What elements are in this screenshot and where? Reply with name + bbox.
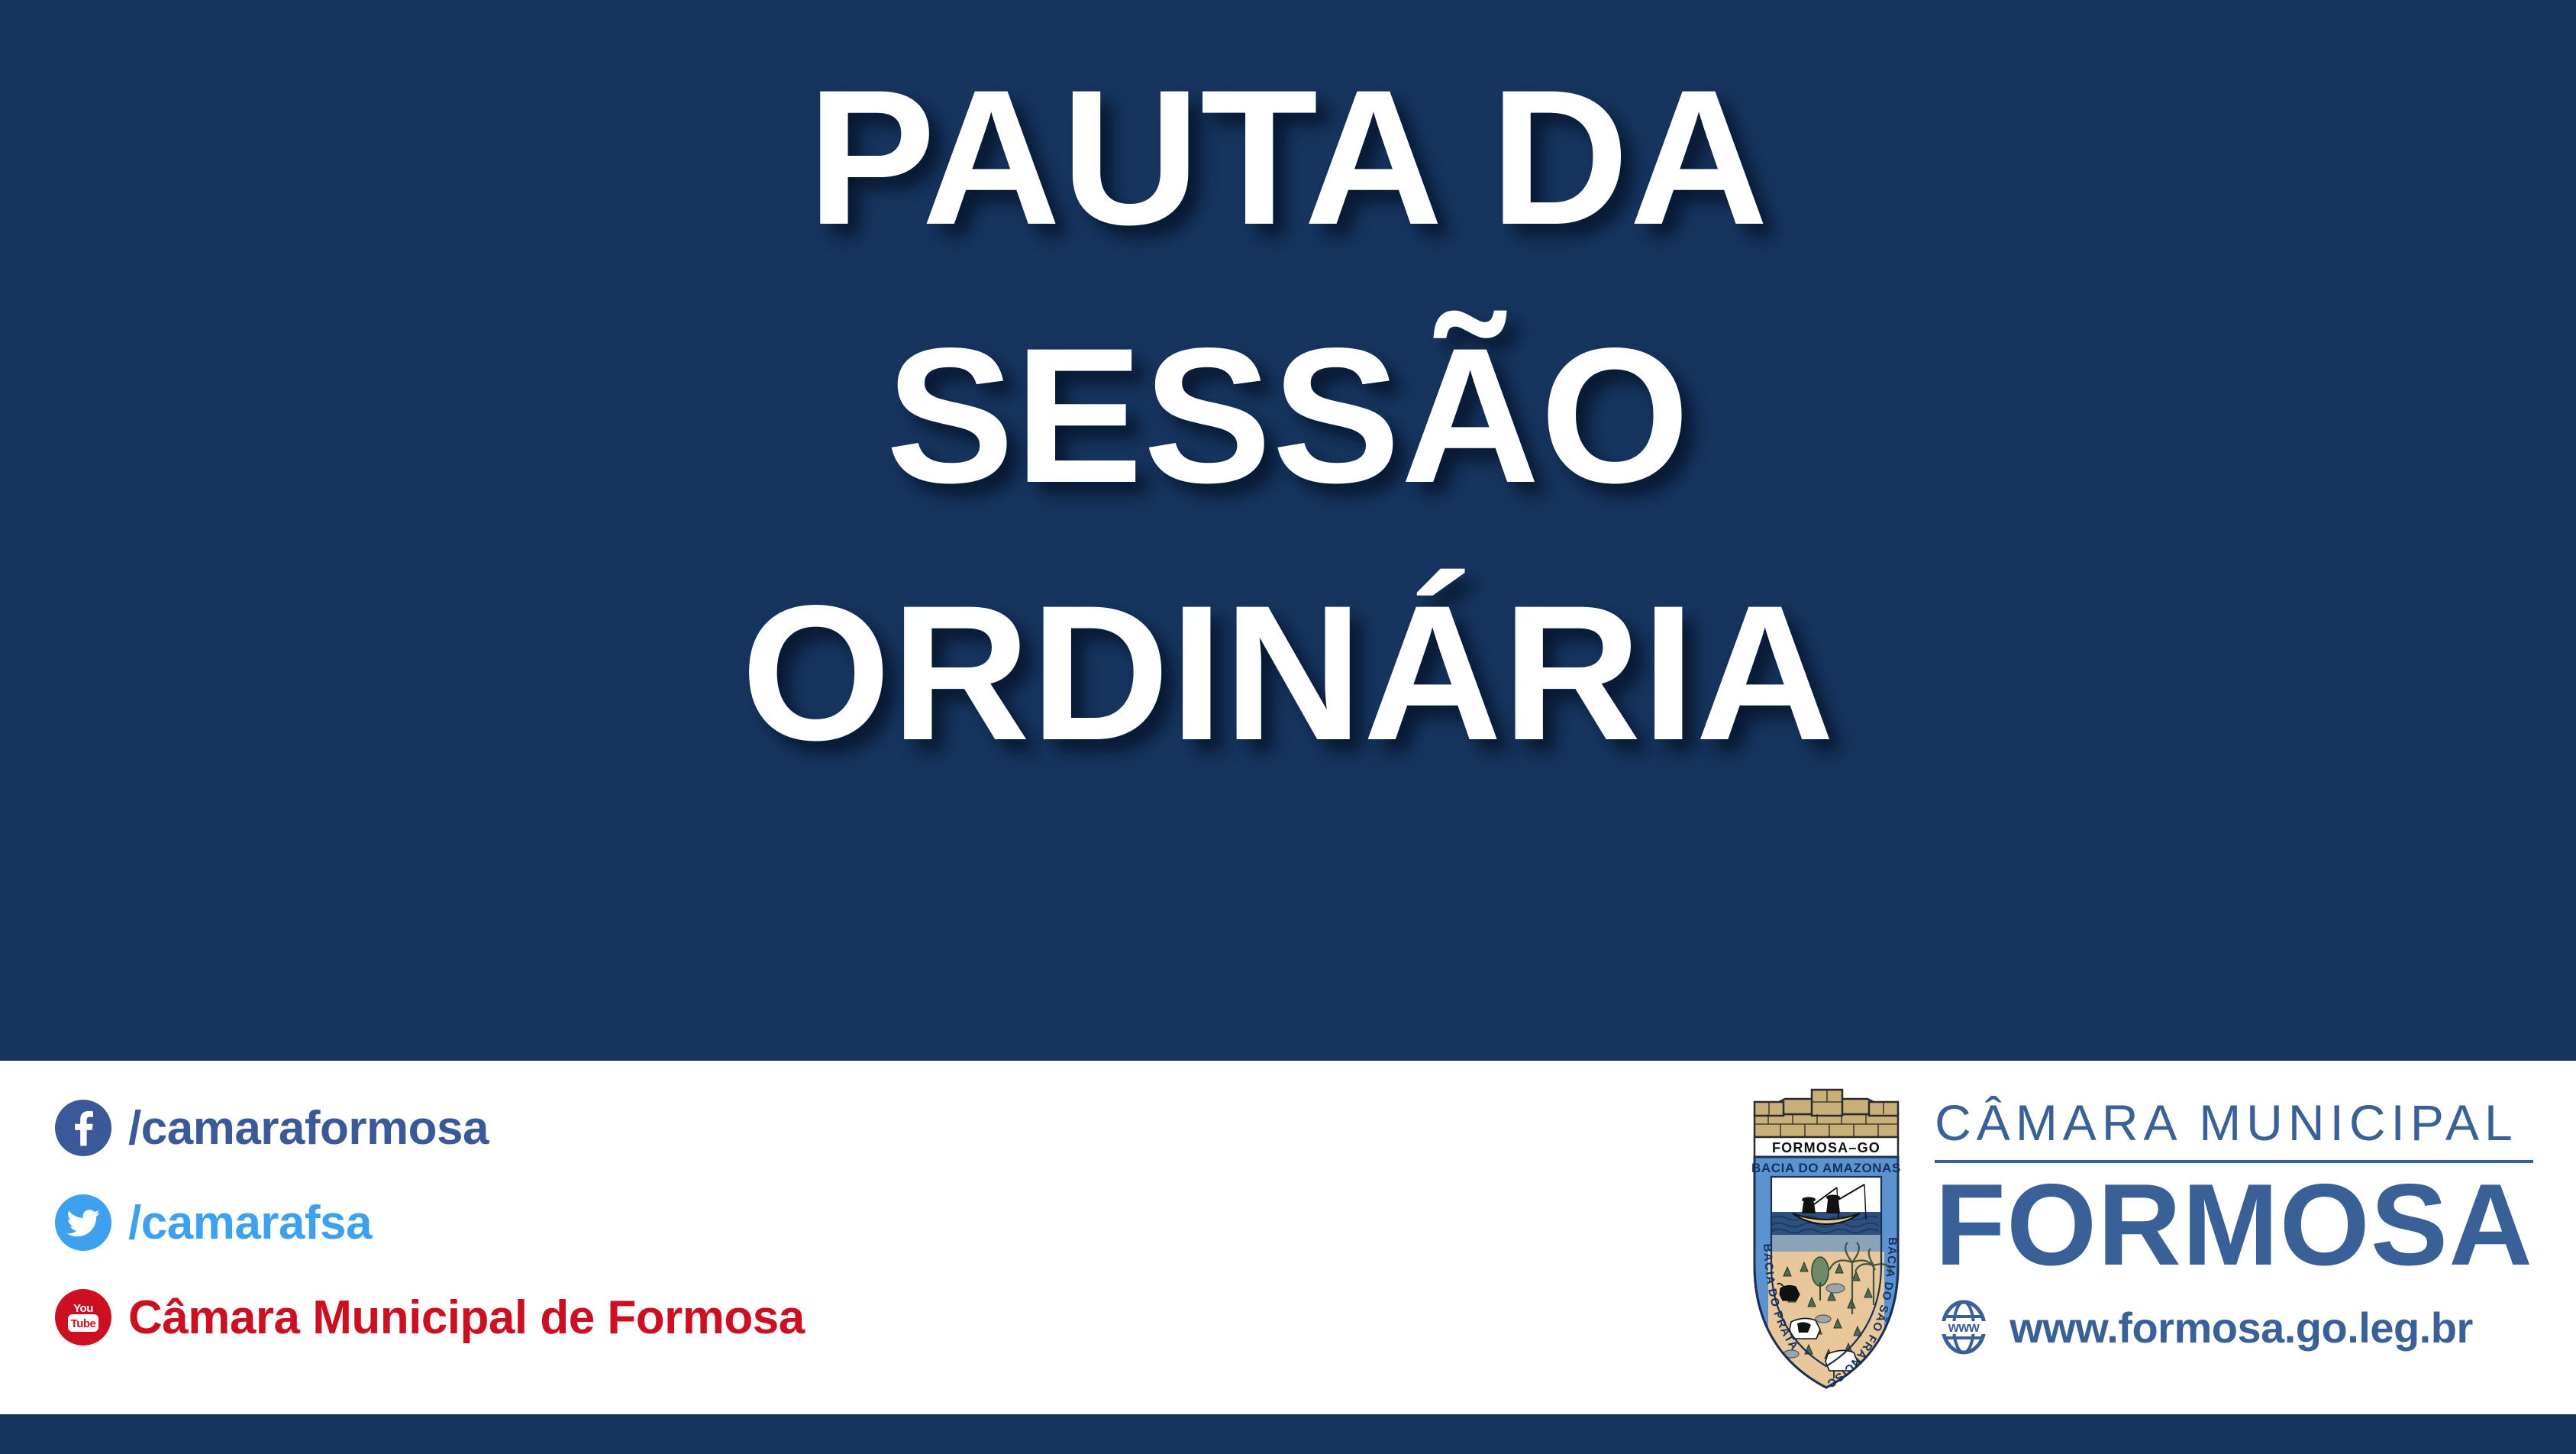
hero-title-line-3: ORDINÁRIA (741, 544, 1835, 803)
svg-text:FORMOSA–GO: FORMOSA–GO (1772, 1140, 1880, 1155)
poster-canvas: PAUTA DA SESSÃO ORDINÁRIA /camaraformosa (0, 0, 2576, 1454)
www-globe-icon: www (1935, 1298, 1993, 1356)
brand-title: FORMOSA (1935, 1166, 2533, 1284)
brand-lockup: FORMOSA–GO BACIA DO AMAZONAS (1738, 1078, 2533, 1398)
social-links-group: /camaraformosa /camarafsa You (55, 1087, 805, 1359)
coat-of-arms-crest: FORMOSA–GO BACIA DO AMAZONAS (1738, 1085, 1915, 1398)
brand-subtitle: CÂMARA MUNICIPAL (1935, 1097, 2533, 1148)
website-row[interactable]: www www.formosa.go.leg.br (1935, 1298, 2533, 1356)
social-row-facebook[interactable]: /camaraformosa (55, 1087, 805, 1169)
facebook-handle[interactable]: /camaraformosa (128, 1101, 489, 1155)
svg-text:BACIA DO AMAZONAS: BACIA DO AMAZONAS (1751, 1161, 1901, 1175)
svg-text:You: You (73, 1302, 93, 1315)
social-row-twitter[interactable]: /camarafsa (55, 1181, 805, 1264)
hero-title-line-1: PAUTA DA (807, 29, 1768, 287)
twitter-handle[interactable]: /camarafsa (128, 1196, 372, 1250)
facebook-icon[interactable] (55, 1100, 111, 1156)
youtube-icon[interactable]: You Tube (55, 1289, 111, 1346)
social-row-youtube[interactable]: You Tube Câmara Municipal de Formosa (55, 1276, 805, 1359)
hero-section: PAUTA DA SESSÃO ORDINÁRIA (0, 0, 2576, 1061)
twitter-icon[interactable] (55, 1194, 111, 1251)
footer-bottom-bar (0, 1414, 2576, 1454)
footer-band: /camaraformosa /camarafsa You (0, 1061, 2576, 1414)
svg-text:www: www (1948, 1320, 1980, 1335)
youtube-channel-name[interactable]: Câmara Municipal de Formosa (128, 1291, 805, 1345)
svg-text:Tube: Tube (71, 1317, 96, 1330)
website-url[interactable]: www.formosa.go.leg.br (2009, 1303, 2473, 1352)
brand-text-block: CÂMARA MUNICIPAL FORMOSA www (1935, 1078, 2533, 1356)
hero-title-line-2: SESSÃO (886, 287, 1690, 545)
